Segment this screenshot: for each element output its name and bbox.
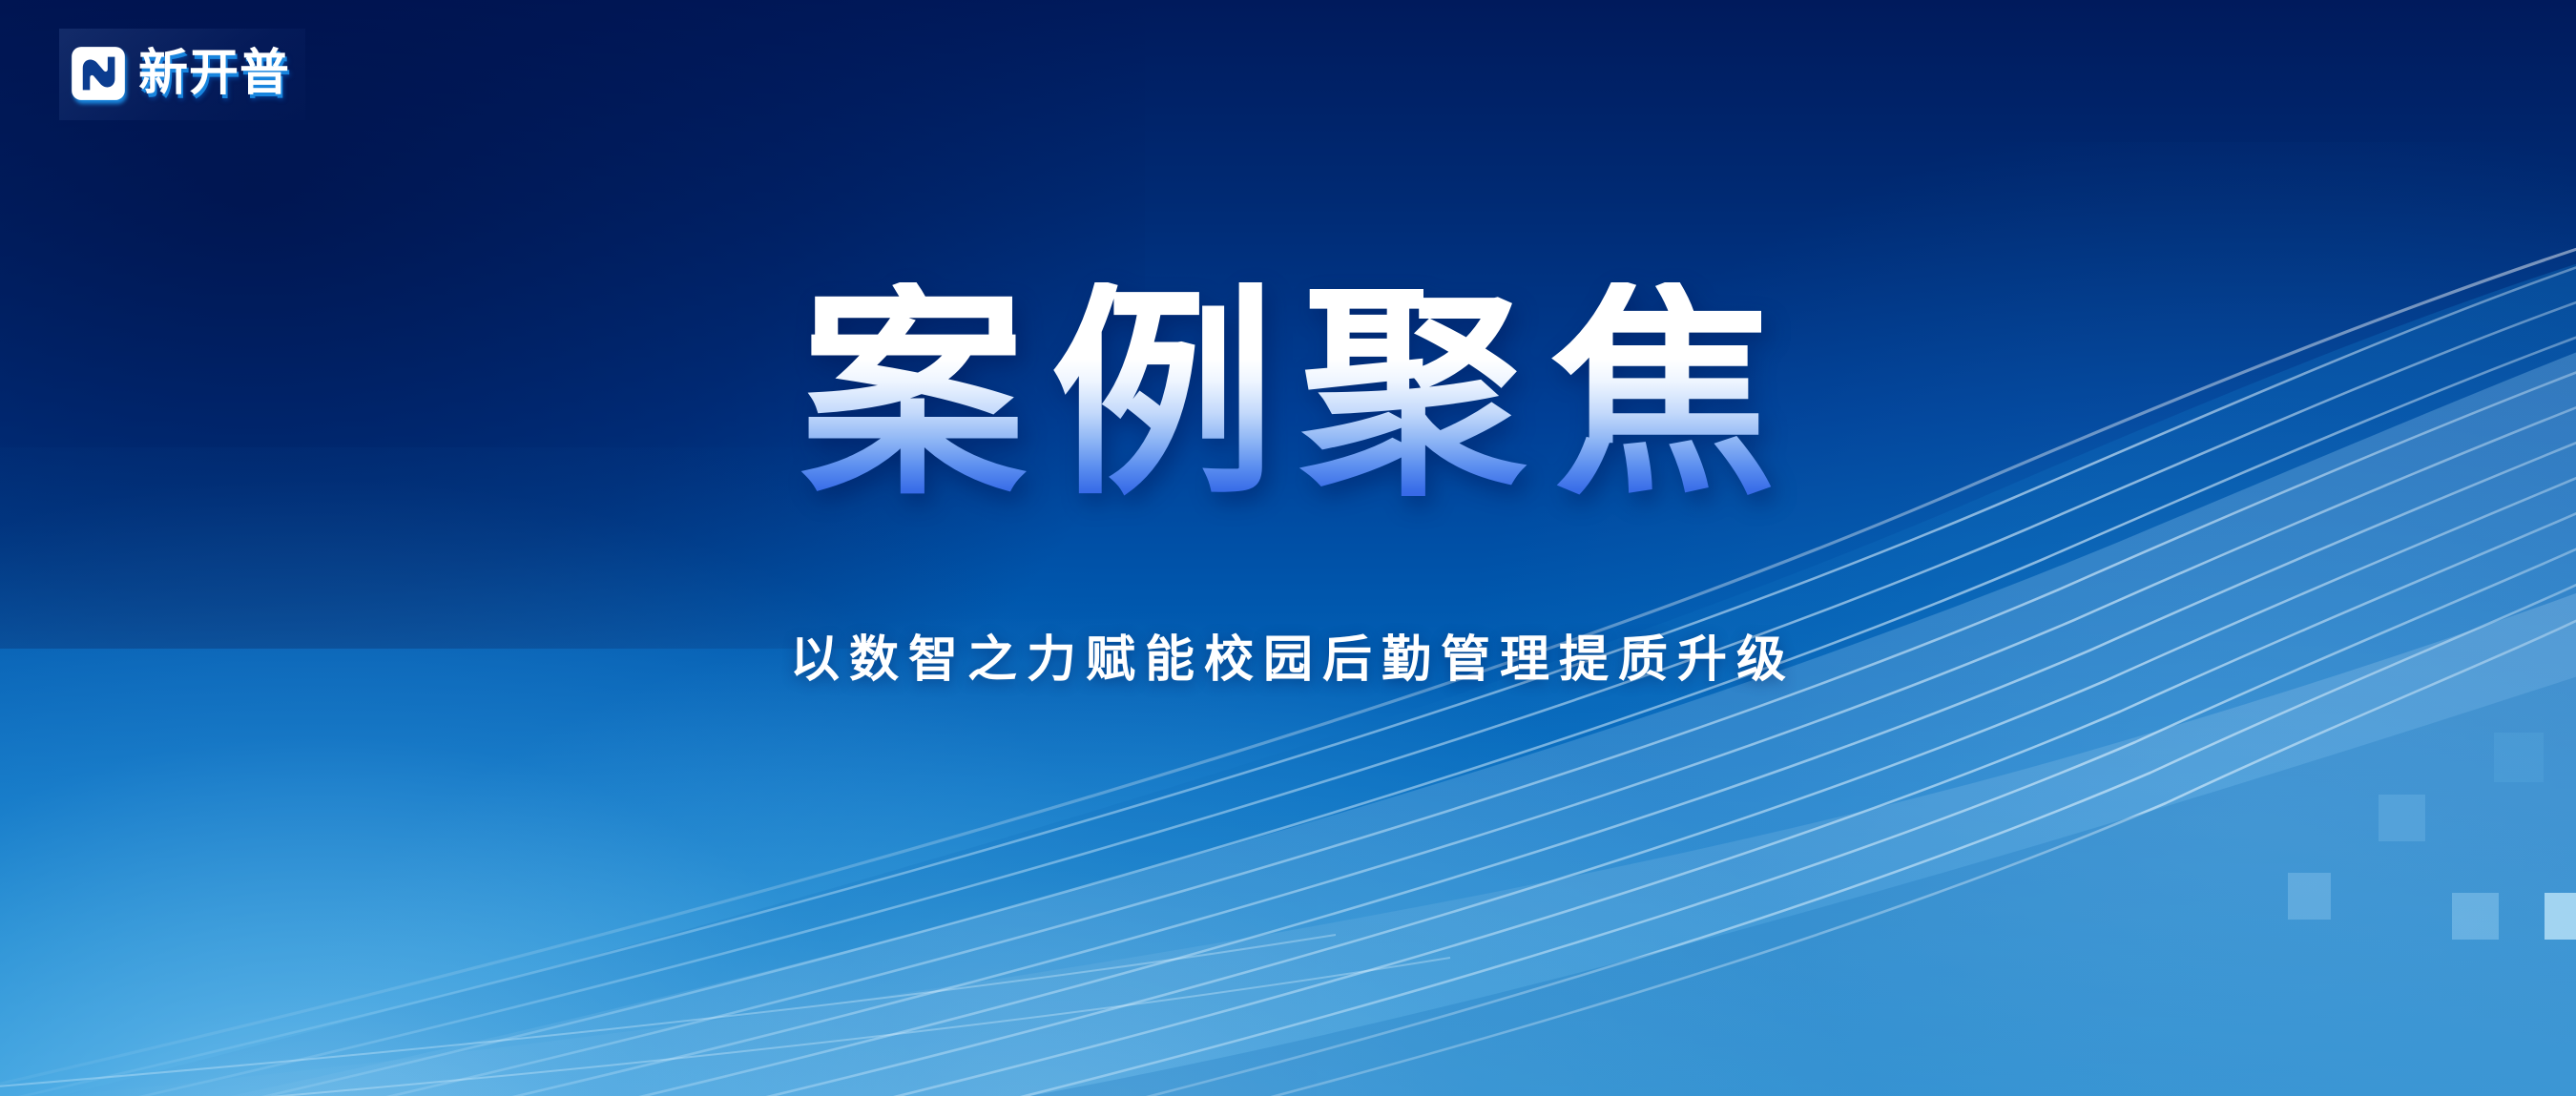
brand-name: 新开普	[138, 49, 290, 98]
deco-square-4	[2452, 893, 2499, 940]
page-subtitle: 以数智之力赋能校园后勤管理提质升级	[0, 630, 2576, 692]
brand-logo[interactable]: 新开普	[59, 29, 305, 120]
bottom-left-glow	[0, 447, 1317, 1096]
case-focus-banner: 新开普 案例聚焦 以数智之力赋能校园后勤管理提质升级	[0, 0, 2576, 1096]
deco-square-3	[2288, 873, 2331, 920]
deco-square-1	[2494, 733, 2544, 782]
kaipu-n-mark-icon	[71, 46, 126, 101]
wave-sweep-decoration	[0, 0, 2576, 1096]
deco-square-5	[2545, 893, 2576, 940]
lower-right-crescent	[1030, 658, 2576, 1096]
bottom-left-arcs	[0, 935, 1450, 1096]
deco-square-2	[2379, 795, 2425, 841]
page-title: 案例聚焦	[0, 282, 2576, 507]
